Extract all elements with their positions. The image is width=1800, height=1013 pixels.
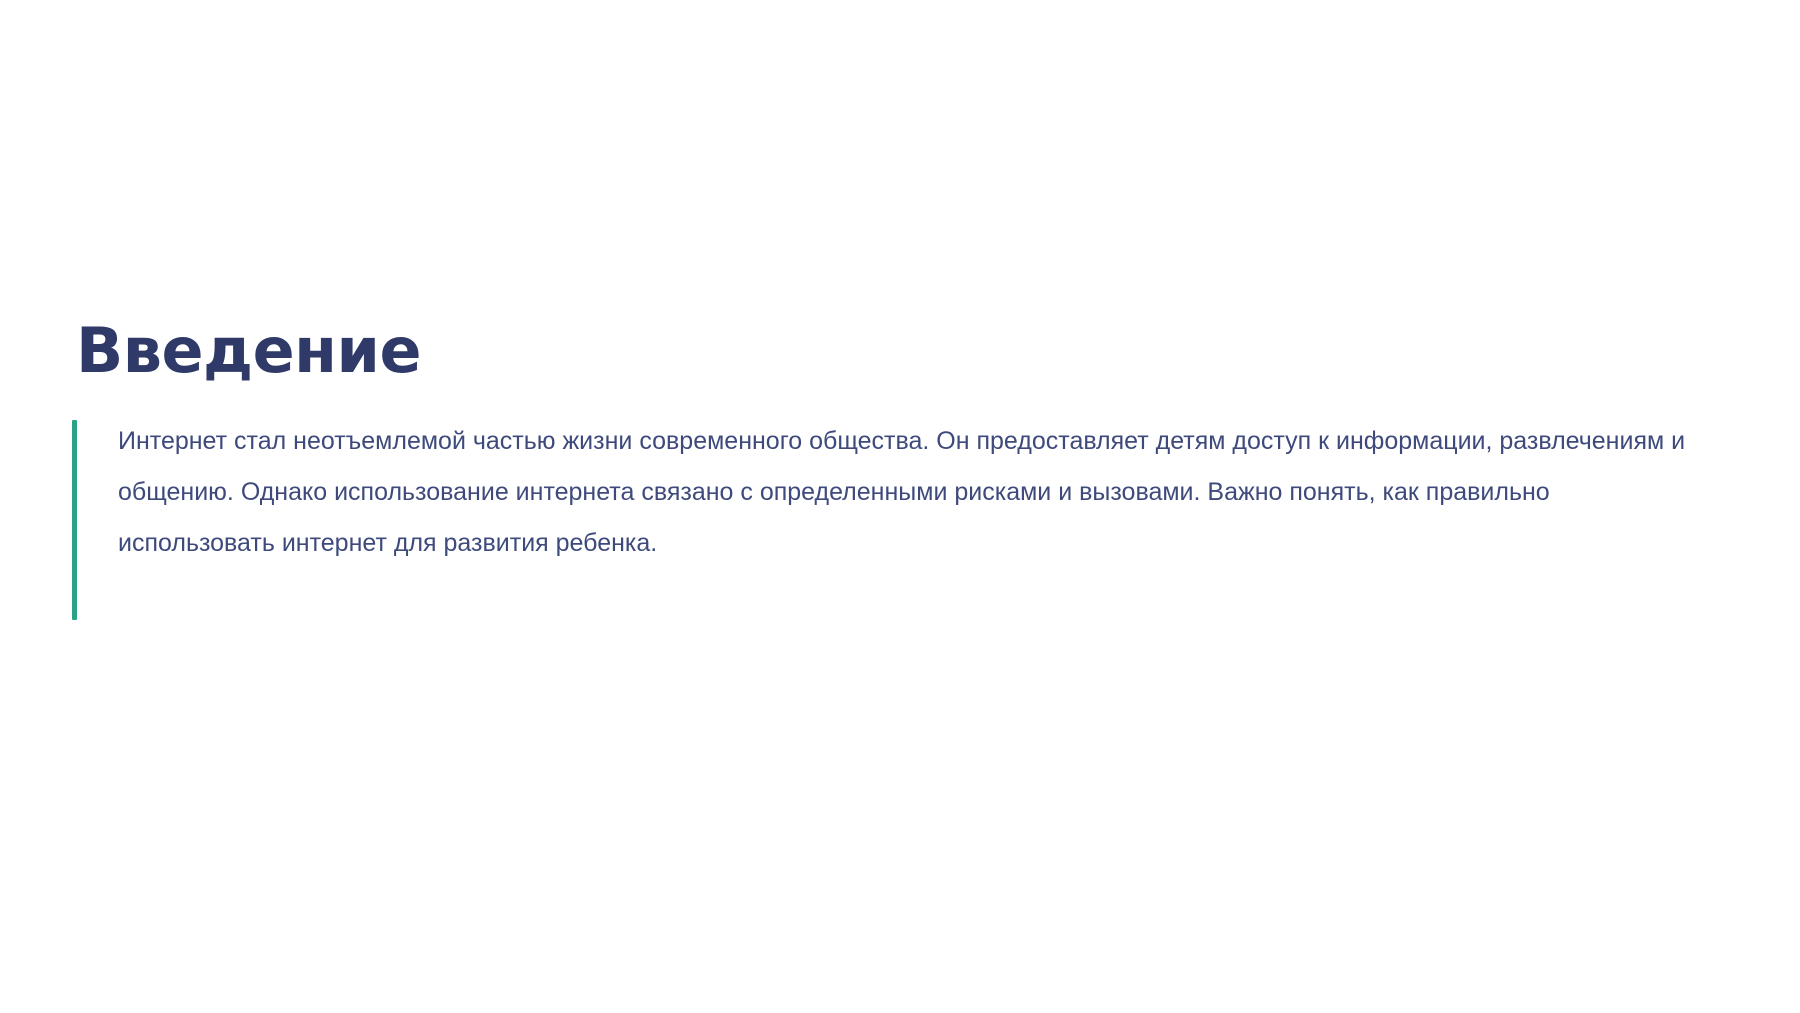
lead-paragraph-block: Интернет стал неотъемлемой частью жизни … (72, 416, 1712, 622)
slide-content: Введение Интернет стал неотъемлемой част… (72, 320, 1712, 622)
accent-bar (72, 420, 77, 620)
slide: Введение Интернет стал неотъемлемой част… (0, 0, 1800, 1013)
page-title: Введение (72, 320, 1712, 382)
lead-paragraph: Интернет стал неотъемлемой частью жизни … (118, 416, 1698, 569)
